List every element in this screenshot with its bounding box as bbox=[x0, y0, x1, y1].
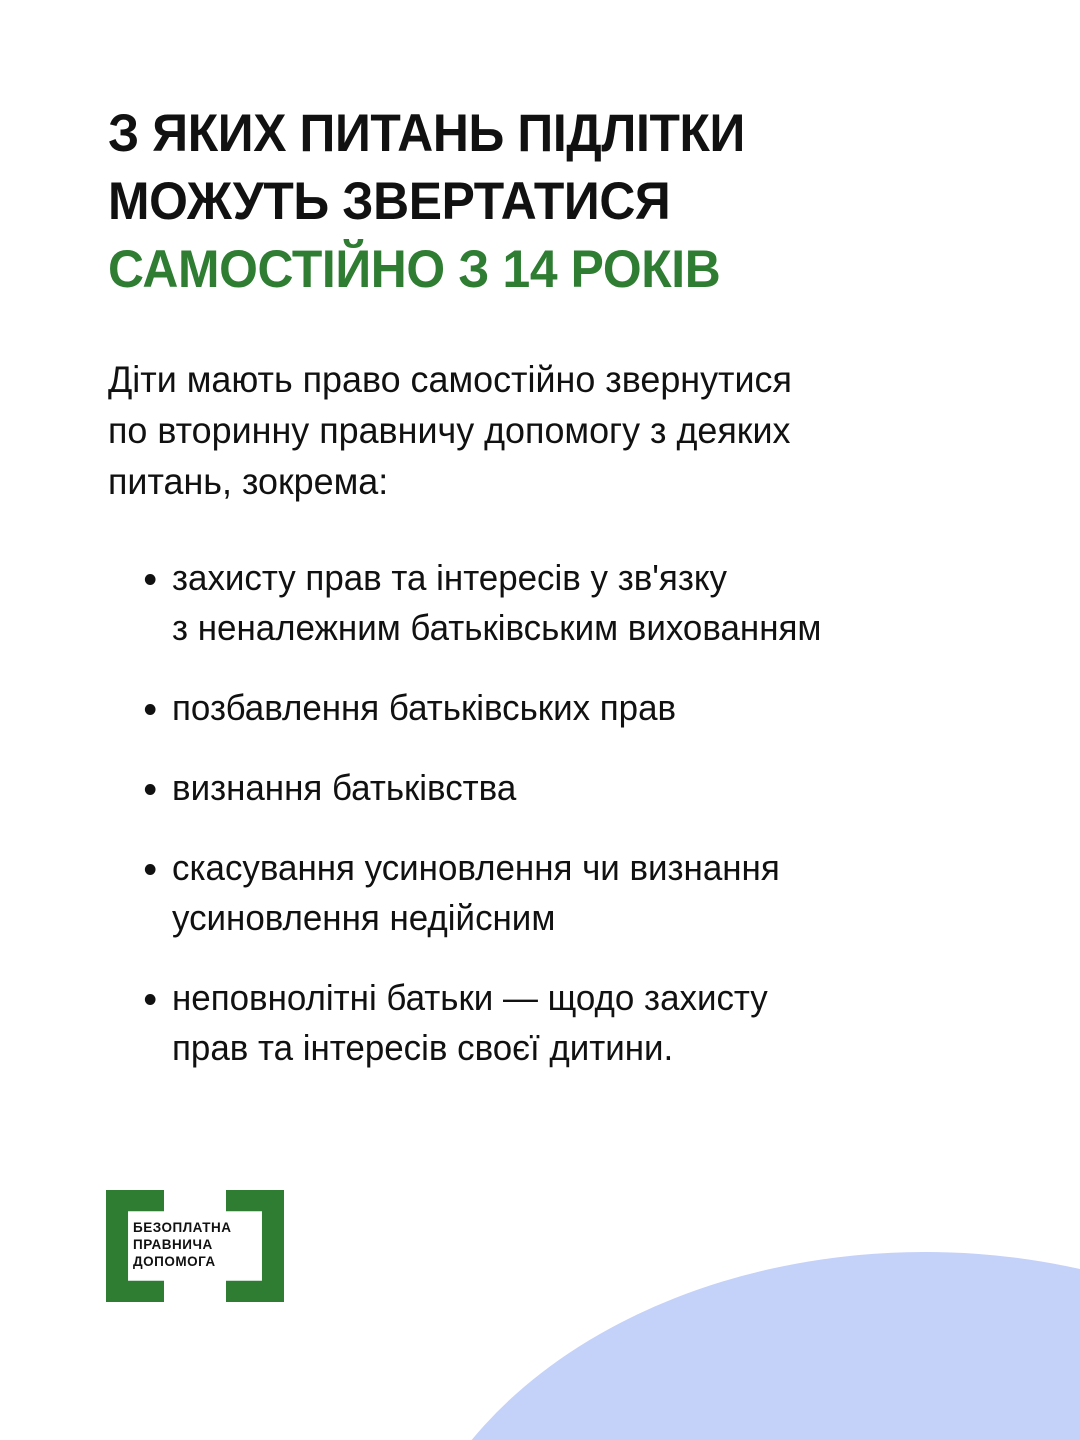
title-line-2: МОЖУТЬ ЗВЕРТАТИСЯ bbox=[108, 168, 954, 236]
list-item-line: усиновлення недійсним bbox=[172, 893, 981, 943]
logo-text-line-2: ПРАВНИЧА bbox=[133, 1236, 259, 1253]
bullet-dot-icon bbox=[145, 704, 156, 715]
intro-paragraph: Діти мають право самостійно звернутися п… bbox=[108, 304, 933, 507]
list-item: неповнолітні батьки — щодо захисту прав … bbox=[108, 973, 981, 1073]
free-legal-aid-logo: БЕЗОПЛАТНА ПРАВНИЧА ДОПОМОГА bbox=[106, 1190, 284, 1302]
list-item-line: з неналежним батьківським вихованням bbox=[172, 603, 981, 653]
topics-list: захисту прав та інтересів у зв'язку з не… bbox=[108, 507, 1008, 1073]
list-item: захисту прав та інтересів у зв'язку з не… bbox=[108, 553, 981, 653]
list-item-line: неповнолітні батьки — щодо захисту bbox=[172, 973, 981, 1023]
decorative-blue-arc bbox=[395, 1252, 1080, 1440]
content-column: З ЯКИХ ПИТАНЬ ПІДЛІТКИ МОЖУТЬ ЗВЕРТАТИСЯ… bbox=[108, 100, 1008, 1073]
list-item-line: визнання батьківства bbox=[172, 763, 981, 813]
logo-text-line-1: БЕЗОПЛАТНА bbox=[133, 1219, 259, 1236]
bullet-dot-icon bbox=[145, 574, 156, 585]
list-item-line: прав та інтересів своєї дитини. bbox=[172, 1023, 981, 1073]
list-item: позбавлення батьківських прав bbox=[108, 683, 981, 733]
page-title: З ЯКИХ ПИТАНЬ ПІДЛІТКИ МОЖУТЬ ЗВЕРТАТИСЯ… bbox=[108, 100, 954, 304]
list-item-line: захисту прав та інтересів у зв'язку bbox=[172, 553, 981, 603]
intro-line-3: питань, зокрема: bbox=[108, 456, 933, 507]
list-item: скасування усиновлення чи визнання усино… bbox=[108, 843, 981, 943]
bullet-dot-icon bbox=[145, 864, 156, 875]
intro-line-2: по вторинну правничу допомогу з деяких bbox=[108, 405, 933, 456]
bullet-dot-icon bbox=[145, 784, 156, 795]
bullet-dot-icon bbox=[145, 994, 156, 1005]
logo-text: БЕЗОПЛАТНА ПРАВНИЧА ДОПОМОГА bbox=[133, 1219, 259, 1270]
logo-text-line-3: ДОПОМОГА bbox=[133, 1253, 259, 1270]
title-line-1: З ЯКИХ ПИТАНЬ ПІДЛІТКИ bbox=[108, 100, 954, 168]
intro-line-1: Діти мають право самостійно звернутися bbox=[108, 354, 933, 405]
list-item-line: позбавлення батьківських прав bbox=[172, 683, 981, 733]
title-line-3-accent: САМОСТІЙНО З 14 РОКІВ bbox=[108, 236, 954, 304]
poster-canvas: З ЯКИХ ПИТАНЬ ПІДЛІТКИ МОЖУТЬ ЗВЕРТАТИСЯ… bbox=[0, 0, 1080, 1440]
list-item-line: скасування усиновлення чи визнання bbox=[172, 843, 981, 893]
list-item: визнання батьківства bbox=[108, 763, 981, 813]
